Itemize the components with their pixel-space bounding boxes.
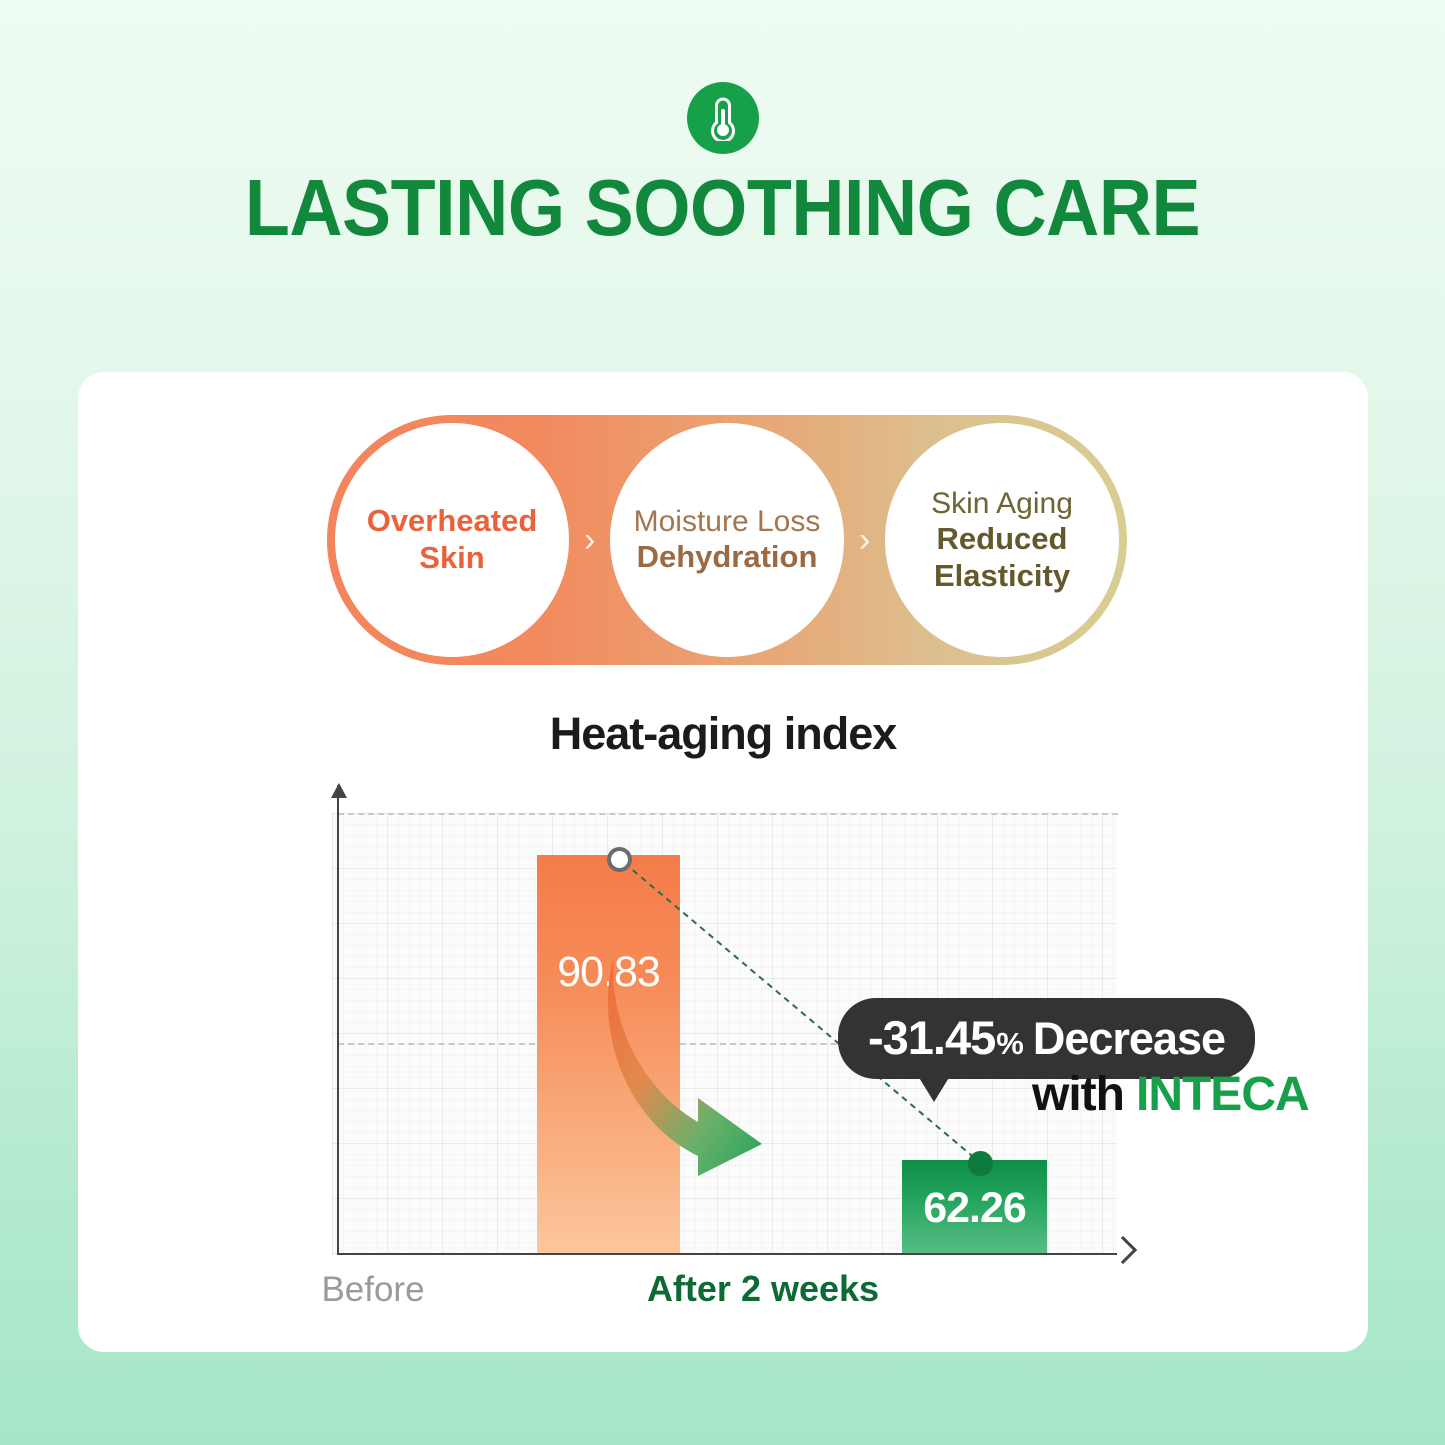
decrease-arrow-icon	[602, 950, 842, 1180]
skin-damage-flow: Overheated Skin › Moisture Loss Dehydrat…	[327, 415, 1127, 665]
flow-step-3-line3: Elasticity	[934, 558, 1070, 595]
decrease-word: Decrease	[1033, 1013, 1225, 1065]
bar-chart: 90.83 62.26 -31.45 % Decrease	[332, 785, 1122, 1255]
chevron-right-icon-1: ›	[584, 523, 595, 557]
content-card: Overheated Skin › Moisture Loss Dehydrat…	[78, 372, 1368, 1352]
brand-line: withINTECA	[1032, 1067, 1309, 1122]
thermometer-badge	[687, 82, 759, 154]
brand-prefix: with	[1032, 1068, 1124, 1121]
decrease-value: -31.45	[868, 1010, 995, 1065]
thermometer-icon	[704, 95, 742, 141]
chart-title: Heat-aging index	[78, 708, 1368, 760]
x-label-after: After 2 weeks	[618, 1268, 908, 1310]
x-label-before: Before	[293, 1270, 453, 1310]
flow-step-3-line1: Skin Aging	[931, 486, 1073, 521]
flow-step-2-line2: Dehydration	[637, 539, 818, 576]
chevron-right-icon-2: ›	[859, 523, 870, 557]
tooltip-tail	[918, 1076, 950, 1102]
decrease-unit: %	[996, 1026, 1024, 1062]
flow-step-2-line1: Moisture Loss	[634, 504, 821, 539]
brand-name: INTECA	[1136, 1068, 1309, 1121]
flow-step-1-line2: Skin	[419, 540, 484, 577]
data-point-marker-before	[607, 847, 632, 872]
flow-step-1: Overheated Skin	[335, 423, 569, 657]
page-title: LASTING SOOTHING CARE	[58, 168, 1387, 248]
data-point-marker-after	[968, 1151, 993, 1176]
flow-step-2: Moisture Loss Dehydration	[610, 423, 844, 657]
flow-step-3-line2: Reduced	[937, 521, 1068, 558]
flow-step-1-line1: Overheated	[367, 503, 538, 540]
flow-step-3: Skin Aging Reduced Elasticity	[885, 423, 1119, 657]
